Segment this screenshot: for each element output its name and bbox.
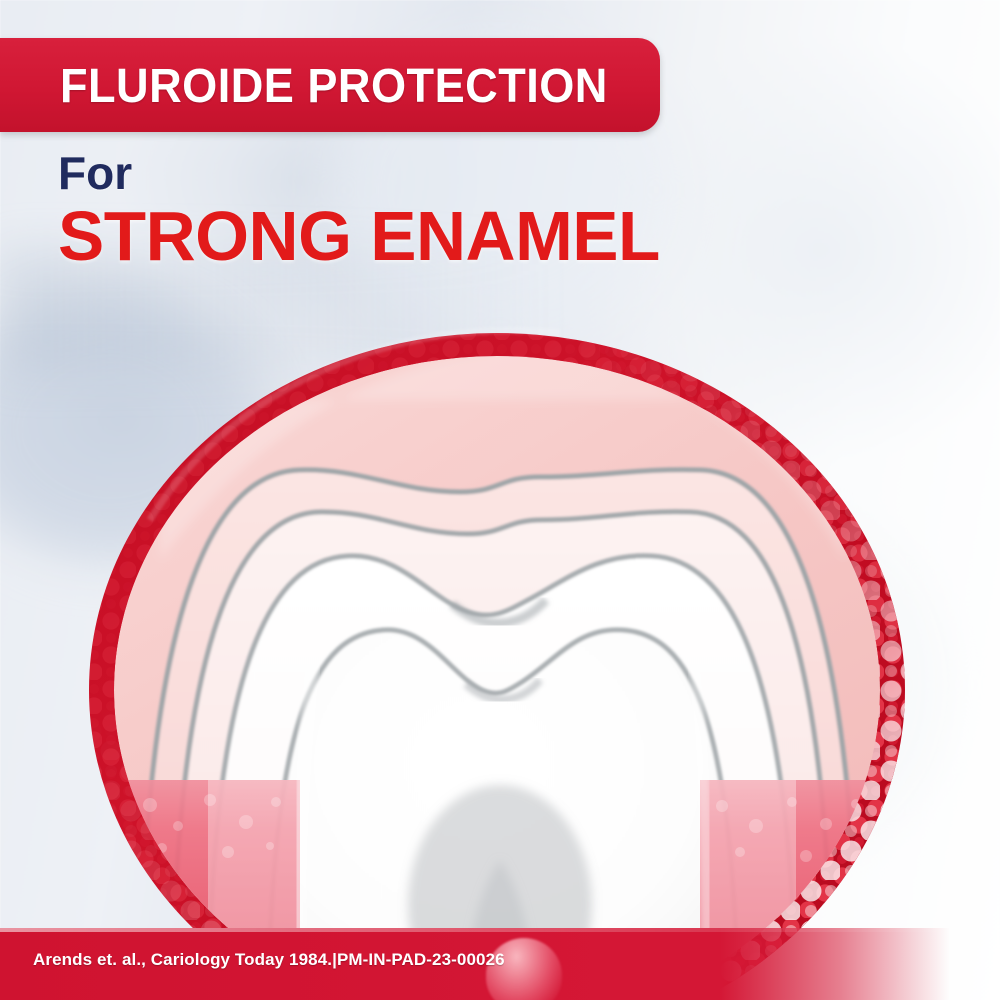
tooth-cross-section-svg bbox=[0, 0, 1000, 1000]
creative-canvas: FLUROIDE PROTECTION For STRONG ENAMEL Ar… bbox=[0, 0, 1000, 1000]
footer-citation: Arends et. al., Cariology Today 1984.|PM… bbox=[33, 950, 505, 970]
tooth-illustration bbox=[0, 0, 1000, 1000]
headline-strong-enamel: STRONG ENAMEL bbox=[58, 196, 660, 276]
footer-top-highlight bbox=[0, 928, 1000, 932]
banner-headline: FLUROIDE PROTECTION bbox=[60, 59, 608, 114]
headline-line-for: For bbox=[58, 146, 132, 200]
